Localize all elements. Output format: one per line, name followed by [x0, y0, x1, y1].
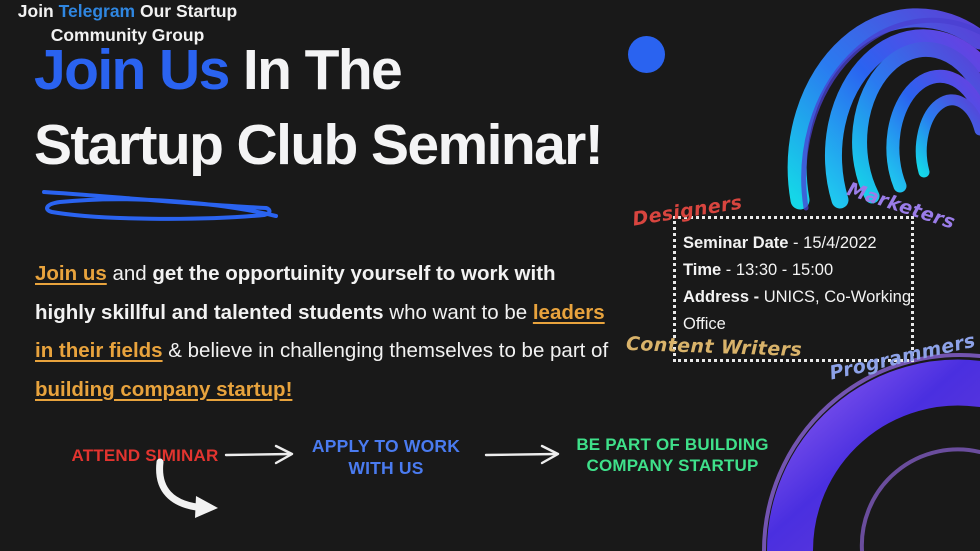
body-seg-1: and: [107, 262, 153, 285]
telegram-pre-text: Join: [18, 1, 59, 21]
poster-canvas: Join Us In The Startup Club Seminar! Joi…: [0, 0, 980, 551]
info-value: 13:30 - 15:00: [736, 261, 833, 279]
headline-rest: In The: [229, 38, 401, 102]
body-seg-4: & believe in challenging themselves to b…: [163, 339, 609, 362]
info-key: Address -: [683, 288, 759, 306]
bottom-right-arc-group: [764, 355, 980, 551]
page-title: Join Us In The Startup Club Seminar!: [34, 33, 794, 183]
arrow-right-icon: [482, 440, 568, 470]
flow-step-be-part-of-building: BE PART OF BUILDING COMPANY STARTUP: [565, 434, 780, 477]
arrow-curved-down-right-icon: [148, 458, 238, 526]
flow-step-apply-to-work: APPLY TO WORK WITH US: [296, 436, 476, 480]
top-right-arc-group: [797, 18, 980, 208]
headline-line2: Startup Club Seminar!: [34, 113, 602, 177]
join-us-link[interactable]: Join us: [35, 262, 107, 285]
info-sep: -: [721, 261, 736, 279]
info-key: Time: [683, 261, 721, 279]
telegram-link[interactable]: Telegram: [59, 1, 136, 21]
info-value: 15/4/2022: [803, 234, 876, 252]
underline-scribble-icon: [38, 182, 283, 227]
body-bold-2: and talented students: [172, 301, 384, 324]
building-startup-link[interactable]: building company startup!: [35, 378, 292, 401]
info-key: Seminar Date: [683, 234, 788, 252]
body-seg-3: who want to be: [384, 301, 533, 324]
flow-step-attend-seminar: ATTEND SIMINAR: [60, 445, 230, 466]
info-sep: -: [788, 234, 803, 252]
info-row: Seminar Date - 15/4/2022: [683, 230, 913, 257]
info-row: Time - 13:30 - 15:00: [683, 257, 913, 284]
body-paragraph: Join us and get the opportuinity yoursel…: [35, 255, 615, 409]
info-row: Address - UNICS, Co-Working Office: [683, 284, 913, 338]
arrow-right-icon: [222, 440, 302, 470]
headline-accent: Join Us: [34, 38, 229, 102]
seminar-info-list: Seminar Date - 15/4/2022 Time - 13:30 - …: [683, 230, 913, 338]
